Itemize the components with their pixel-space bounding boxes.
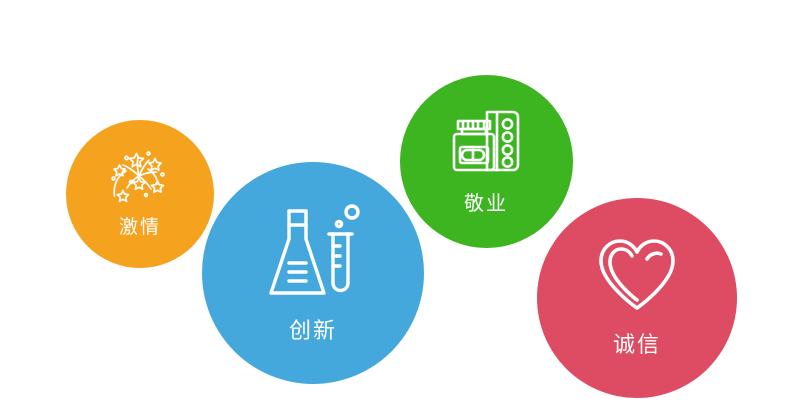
value-bubble-passion[interactable]: 激情 [66,120,214,268]
values-graphic-canvas: 激情 [0,0,800,412]
flask-test-tube-icon [266,201,360,299]
value-bubble-passion-label: 激情 [119,212,161,239]
value-bubble-integrity-label: 诚信 [613,327,661,359]
value-bubble-innovation[interactable]: 创新 [202,162,424,384]
heart-icon [595,237,679,313]
fireworks-icon [109,150,171,206]
value-bubble-innovation-label: 创新 [289,313,337,345]
value-bubble-dedication[interactable]: 敬业 [400,75,573,248]
value-bubble-dedication-label: 敬业 [464,187,508,216]
medicine-bottle-blister-icon [449,107,523,179]
value-bubble-integrity[interactable]: 诚信 [537,198,737,398]
